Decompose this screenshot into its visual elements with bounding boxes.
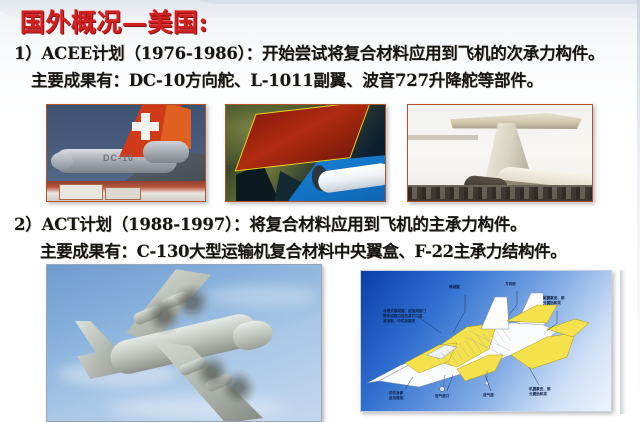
diagram-annotation-8: 机翼蒙皮、部 分翼肋和梁: [529, 387, 551, 397]
photo4-propeller-4: [219, 369, 257, 407]
diagram-annotation-5: 前机身蒙 皮及框架: [389, 391, 403, 401]
photo1-registration-text: DC-10: [103, 153, 134, 163]
photo-l1011-aileron: [225, 104, 386, 202]
photo3-crowd: [408, 187, 593, 199]
diagram-annotation-1: 合理式襟副翼、起落架舱门 整体油箱口盖及其它口盖 减速板、中机身蒙皮: [383, 309, 426, 324]
slide-title: 国外概况—美国:: [20, 3, 208, 39]
photo1-swiss-cross-horizontal: [132, 122, 159, 131]
photo1-ground-vehicle-b: [105, 187, 141, 200]
photo4-cloud-b: [207, 285, 317, 307]
header-decoration-band-secondary: [182, 0, 640, 4]
photo1-ground-vehicle-a: [59, 184, 103, 200]
diagram-annotation-7: 进气道: [483, 393, 494, 398]
photo3-structure-bar: [408, 135, 478, 140]
body-line-4: 主要成果有：C-130大型运输机复合材料中央翼盒、F-22主承力结构件。: [40, 238, 566, 262]
photo-dc10-rudder: DC-10: [46, 104, 206, 202]
body-line-1: 1）ACEE计划（1976-1986）：开始尝试将复合材料应用到飞机的次承力构件…: [14, 40, 604, 64]
diagram-annotation-2: 襟副翼: [449, 285, 460, 290]
photo-c130-transport: [46, 264, 322, 422]
photo-boeing727-elevator: [407, 104, 593, 202]
photo1-fuselage-nose: [51, 152, 73, 170]
photo1-tail-engine: [143, 141, 189, 163]
diagram-annotation-6: 进气道口: [435, 394, 449, 399]
photo4-propeller-2: [173, 283, 211, 321]
body-line-3: 2）ACT计划（1988-1997）：将复合材料应用到飞机的主承力构件。: [14, 211, 526, 235]
diagram-annotation-4: 尾翼蒙皮、部 分翼肋和梁: [543, 296, 565, 306]
diagram-annotation-3: 方向舵: [505, 282, 516, 287]
diagram-f22-composites: 合理式襟副翼、起落架舱门 整体油箱口盖及其它口盖 减速板、中机身蒙皮 襟副翼 方…: [360, 270, 612, 412]
photo5-drop-shadow: [620, 270, 626, 414]
slide-canvas: 国外概况—美国: 1）ACEE计划（1976-1986）：开始尝试将复合材料应用…: [0, 0, 640, 422]
body-line-2: 主要成果有：DC-10方向舵、L-1011副翼、波音727升降舵等部件。: [31, 67, 543, 91]
